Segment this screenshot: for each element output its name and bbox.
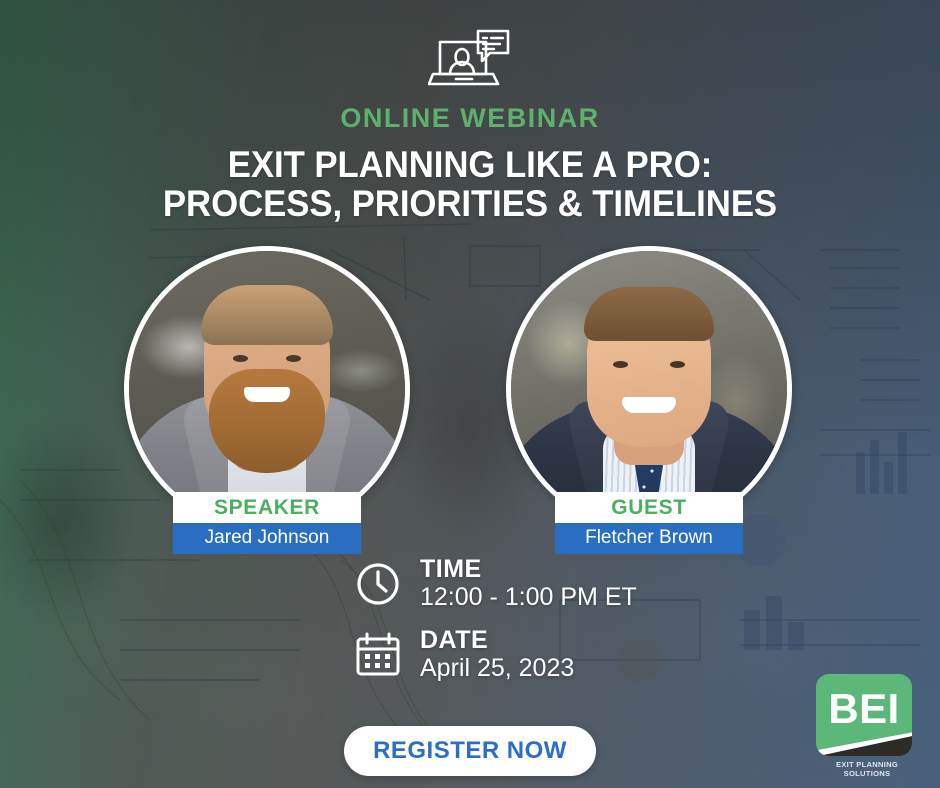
nameplate-1: SPEAKER Jared Johnson: [173, 492, 361, 554]
bei-logo: BEI EXIT PLANNING SOLUTIONS: [816, 674, 918, 778]
clock-icon: [352, 561, 404, 607]
date-value: April 25, 2023: [420, 654, 574, 682]
webinar-promo-poster: ONLINE WEBINAR EXIT PLANNING LIKE A PRO:…: [0, 0, 940, 788]
speaker-role-label: SPEAKER: [173, 492, 361, 523]
speakers-row: SPEAKER Jared Johnson: [0, 246, 940, 546]
speaker-card-2: GUEST Fletcher Brown: [506, 246, 792, 532]
page-title: EXIT PLANNING LIKE A PRO: PROCESS, PRIOR…: [0, 145, 940, 223]
guest-name-label: Fletcher Brown: [555, 523, 743, 554]
detail-row-date: DATE April 25, 2023: [352, 627, 637, 682]
time-value: 12:00 - 1:00 PM ET: [420, 583, 637, 611]
time-label: TIME: [420, 556, 637, 583]
date-label: DATE: [420, 627, 574, 654]
avatar: [124, 246, 410, 532]
event-details: TIME 12:00 - 1:00 PM ET: [352, 556, 637, 698]
detail-row-time: TIME 12:00 - 1:00 PM ET: [352, 556, 637, 611]
laptop-video-chat-icon: [428, 26, 512, 97]
bei-logo-text: BEI: [816, 688, 912, 730]
speaker-photo-2: [511, 251, 787, 527]
page-title-line2: PROCESS, PRIORITIES & TIMELINES: [28, 184, 912, 223]
nameplate-2: GUEST Fletcher Brown: [555, 492, 743, 554]
calendar-icon: [352, 632, 404, 678]
page-title-line1: EXIT PLANNING LIKE A PRO:: [28, 145, 912, 184]
bei-logo-mark: BEI: [816, 674, 912, 756]
bei-logo-tagline: EXIT PLANNING SOLUTIONS: [816, 760, 918, 778]
register-now-button[interactable]: REGISTER NOW: [344, 726, 596, 776]
speaker-name-label: Jared Johnson: [173, 523, 361, 554]
eyebrow-label: ONLINE WEBINAR: [0, 103, 940, 134]
speaker-photo-1: [129, 251, 405, 527]
avatar: [506, 246, 792, 532]
guest-role-label: GUEST: [555, 492, 743, 523]
speaker-card-1: SPEAKER Jared Johnson: [124, 246, 410, 532]
